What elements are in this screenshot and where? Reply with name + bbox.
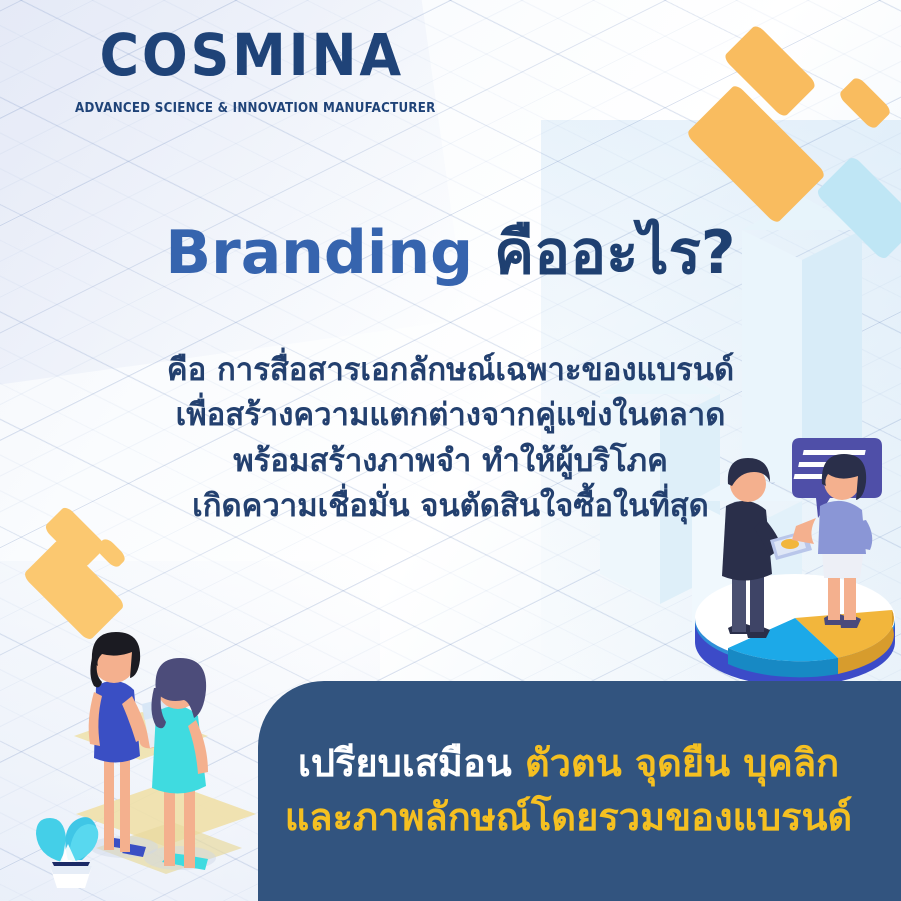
orange-diamond-left-tiny: [94, 536, 127, 569]
banner-line-1-white: เปรียบเสมือน: [298, 741, 525, 785]
page-title-english: Branding: [165, 218, 494, 288]
brand-tagline: ADVANCED SCIENCE & INNOVATION MANUFACTUR…: [75, 100, 409, 116]
brand-name: COSMINA: [75, 26, 428, 84]
banner-line-2: และภาพลักษณ์โดยรวมของแบรนด์: [258, 791, 879, 845]
brand-logo: COSMINA ADVANCED SCIENCE & INNOVATION MA…: [75, 26, 455, 116]
body-line-1: คือ การสื่อสารเอกลักษณ์เฉพาะของแบรนด์: [0, 348, 901, 393]
banner-text: เปรียบเสมือน ตัวตน จุดยืน บุคลิก และภาพล…: [258, 737, 879, 845]
page-title-thai: คืออะไร?: [494, 218, 736, 288]
banner-line-2-yellow: และภาพลักษณ์โดยรวมของแบรนด์: [285, 795, 852, 839]
pie-chart-svg: [688, 430, 901, 700]
poster-canvas: COSMINA ADVANCED SCIENCE & INNOVATION MA…: [0, 0, 901, 901]
orange-diamond-top-right-small: [723, 24, 818, 119]
page-title: Branding คืออะไร?: [0, 222, 901, 285]
orange-diamond-top-right-tiny: [837, 75, 892, 130]
bottom-banner: เปรียบเสมือน ตัวตน จุดยืน บุคลิก และภาพล…: [258, 681, 901, 901]
orange-diamond-top-right-large: [685, 83, 826, 224]
illustration-pie-chart-scene: [688, 430, 901, 700]
plant-icon: [14, 796, 124, 896]
banner-line-1: เปรียบเสมือน ตัวตน จุดยืน บุคลิก: [258, 737, 879, 791]
banner-line-1-yellow: ตัวตน จุดยืน บุคลิก: [525, 741, 839, 785]
plant-svg: [14, 796, 124, 896]
